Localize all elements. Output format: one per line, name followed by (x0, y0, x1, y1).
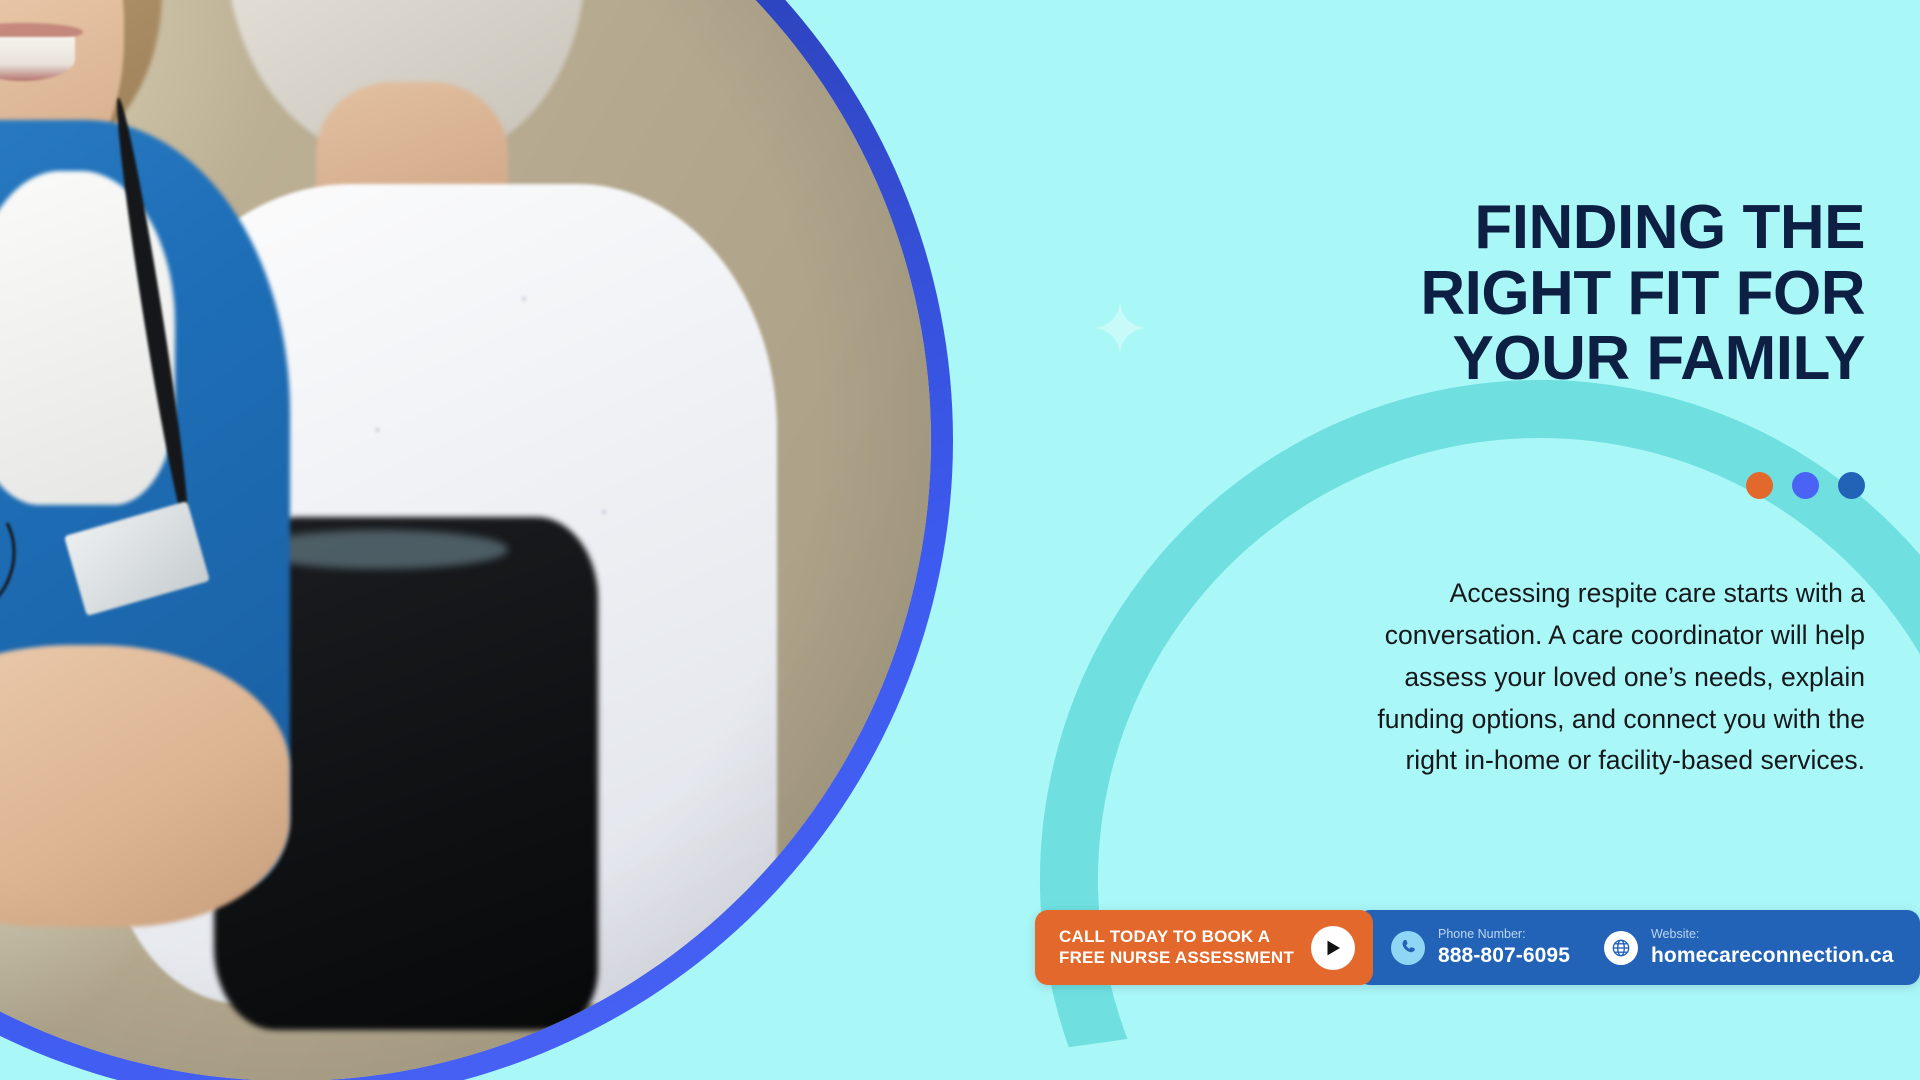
globe-icon (1604, 931, 1638, 965)
accent-dots (1746, 472, 1865, 499)
cta-bar: CALL TODAY TO BOOK A FREE NURSE ASSESSME… (1035, 910, 1920, 985)
call-today-label: CALL TODAY TO BOOK A FREE NURSE ASSESSME… (1059, 927, 1294, 969)
call-today-button[interactable]: CALL TODAY TO BOOK A FREE NURSE ASSESSME… (1035, 910, 1373, 985)
dot-steel-blue (1838, 472, 1865, 499)
phone-block[interactable]: Phone Number: 888-807-6095 (1391, 927, 1570, 968)
website-texts: Website: homecareconnection.ca (1651, 927, 1894, 968)
website-block[interactable]: Website: homecareconnection.ca (1604, 927, 1894, 968)
play-button[interactable] (1311, 926, 1355, 970)
photo-vignette (0, 0, 931, 1080)
photo-image (0, 0, 931, 1080)
play-triangle-icon (1323, 938, 1343, 958)
phone-value: 888-807-6095 (1438, 943, 1570, 968)
globe-outline-icon (1610, 937, 1632, 959)
page-title: FINDING THE RIGHT FIT FOR YOUR FAMILY (1305, 195, 1865, 392)
dot-orange (1746, 472, 1773, 499)
photo-ring (0, 0, 953, 1080)
sparkle-plus-icon (1092, 300, 1148, 356)
circular-photo (0, 0, 931, 1080)
phone-label: Phone Number: (1438, 927, 1570, 943)
dot-royal-blue (1792, 472, 1819, 499)
phone-icon (1391, 931, 1425, 965)
body-paragraph: Accessing respite care starts with a con… (1335, 573, 1865, 782)
cta-contact-panel: Phone Number: 888-807-6095 Website: (1357, 910, 1920, 985)
phone-texts: Phone Number: 888-807-6095 (1438, 927, 1570, 968)
website-label: Website: (1651, 927, 1894, 943)
phone-handset-icon (1398, 937, 1419, 958)
website-value: homecareconnection.ca (1651, 943, 1894, 968)
slide-canvas: FINDING THE RIGHT FIT FOR YOUR FAMILY Ac… (0, 0, 1920, 1080)
